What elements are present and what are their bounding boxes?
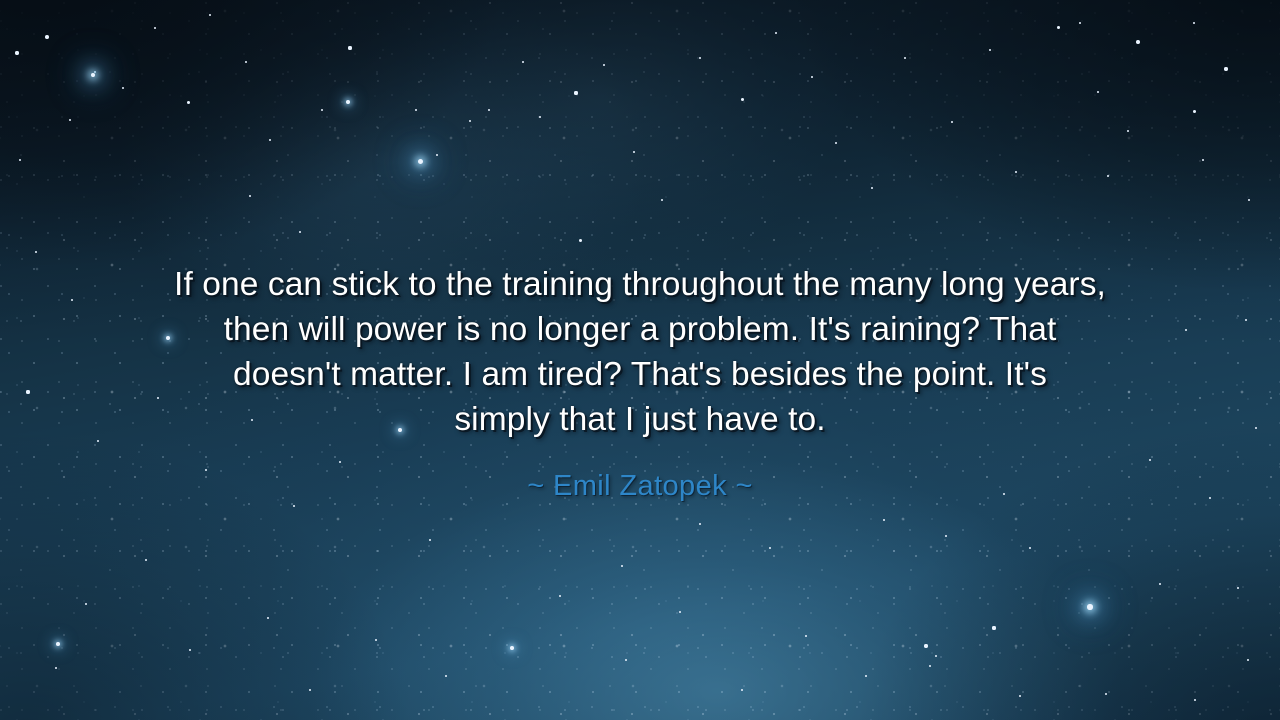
- star-point: [1097, 91, 1100, 94]
- star-point: [19, 159, 21, 161]
- star-point: [1127, 130, 1129, 132]
- star-point: [741, 98, 744, 101]
- star-point: [633, 151, 635, 153]
- star-point: [661, 199, 664, 202]
- star-point: [375, 639, 377, 641]
- star-point: [339, 461, 341, 463]
- star-point: [429, 539, 431, 541]
- star-point: [1087, 604, 1092, 609]
- star-point: [154, 27, 156, 29]
- star-point: [775, 32, 778, 35]
- star-point: [187, 101, 190, 104]
- star-point: [418, 159, 423, 164]
- star-point: [1107, 175, 1109, 177]
- star-point: [522, 61, 525, 64]
- star-point: [835, 142, 838, 145]
- star-point: [1202, 159, 1205, 162]
- star-point: [1193, 22, 1196, 25]
- star-point: [1057, 26, 1060, 29]
- quote-image-canvas: If one can stick to the training through…: [0, 0, 1280, 720]
- star-point: [510, 646, 514, 650]
- star-point: [45, 35, 49, 39]
- star-point: [865, 675, 867, 677]
- star-point: [309, 689, 311, 691]
- star-point: [945, 535, 947, 537]
- star-point: [1019, 695, 1021, 697]
- star-point: [145, 559, 147, 561]
- star-point: [679, 611, 681, 613]
- star-point: [621, 565, 623, 567]
- star-point: [1224, 67, 1227, 70]
- star-point: [1029, 547, 1031, 549]
- star-point: [929, 665, 932, 668]
- star-point: [209, 14, 212, 17]
- star-point: [1105, 693, 1107, 695]
- star-point: [741, 689, 743, 691]
- star-point: [699, 57, 701, 59]
- star-point: [1159, 583, 1161, 585]
- star-point: [904, 57, 907, 60]
- star-point: [189, 649, 191, 651]
- star-point: [625, 659, 627, 661]
- star-point: [85, 603, 88, 606]
- star-point: [603, 64, 605, 66]
- star-point: [293, 505, 296, 508]
- star-point: [883, 519, 885, 521]
- star-point: [245, 61, 247, 63]
- star-point: [346, 100, 350, 104]
- star-point: [574, 91, 577, 94]
- star-point: [1015, 171, 1017, 173]
- star-point: [1194, 699, 1196, 701]
- star-point: [951, 121, 954, 124]
- star-point: [935, 655, 938, 658]
- star-point: [269, 139, 271, 141]
- star-point: [436, 154, 438, 156]
- star-point: [415, 109, 418, 112]
- star-point: [249, 195, 251, 197]
- star-point: [1136, 40, 1140, 44]
- star-point: [122, 87, 125, 90]
- star-point: [69, 119, 71, 121]
- star-point: [539, 116, 542, 119]
- star-point: [35, 251, 38, 254]
- star-point: [871, 187, 873, 189]
- star-point: [924, 644, 927, 647]
- star-point: [1149, 459, 1151, 461]
- star-point: [267, 617, 269, 619]
- star-point: [348, 46, 351, 49]
- star-point: [56, 642, 60, 646]
- star-point: [579, 239, 582, 242]
- star-point: [699, 523, 701, 525]
- star-point: [1247, 659, 1249, 661]
- star-point: [15, 51, 18, 54]
- star-point: [811, 76, 813, 78]
- star-point: [299, 231, 302, 234]
- star-point: [1237, 587, 1240, 590]
- star-point: [989, 49, 991, 51]
- star-point: [469, 120, 471, 122]
- quote-text: If one can stick to the training through…: [96, 262, 1184, 442]
- star-point: [321, 109, 323, 111]
- star-point: [1079, 22, 1081, 24]
- star-point: [55, 667, 57, 669]
- star-point: [91, 73, 96, 78]
- star-point: [488, 109, 491, 112]
- quote-attribution: ~ Emil Zatopek ~: [0, 468, 1280, 504]
- star-point: [1248, 199, 1251, 202]
- star-point: [805, 635, 807, 637]
- star-point: [445, 675, 447, 677]
- star-point: [769, 547, 771, 549]
- star-point: [559, 595, 561, 597]
- star-point: [1193, 110, 1196, 113]
- star-point: [992, 626, 995, 629]
- quote-block: If one can stick to the training through…: [0, 262, 1280, 442]
